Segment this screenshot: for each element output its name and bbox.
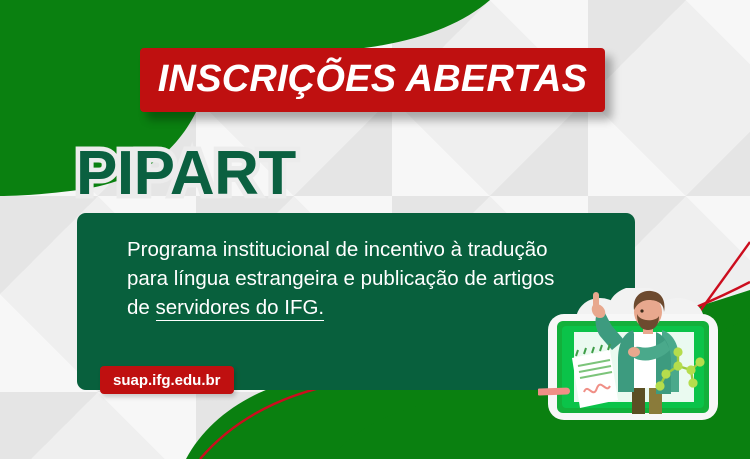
description-line-1: Programa institucional de incentivo à tr…: [127, 238, 548, 261]
resting-hand: [628, 347, 640, 357]
description-line-2: para língua estrangeira e publicação de …: [127, 267, 554, 290]
pointing-finger: [593, 292, 599, 308]
pipart-wordmark: PIPART: [76, 143, 296, 205]
banner-label: INSCRIÇÕES ABERTAS: [158, 60, 587, 98]
suap-url-badge[interactable]: suap.ifg.edu.br: [100, 366, 234, 394]
scientist-presenting-illustration: [538, 288, 750, 438]
eye: [640, 309, 643, 312]
suap-url-label: suap.ifg.edu.br: [113, 373, 221, 388]
description-line-3-prefix: de: [127, 296, 156, 319]
poster-canvas: INSCRIÇÕES ABERTAS Programa instituciona…: [0, 0, 750, 459]
notepad-page: [572, 350, 618, 408]
servidores-ifg-link[interactable]: servidores do IFG.: [156, 296, 325, 321]
pen: [538, 387, 570, 395]
inscriptions-open-banner: INSCRIÇÕES ABERTAS: [140, 48, 605, 112]
